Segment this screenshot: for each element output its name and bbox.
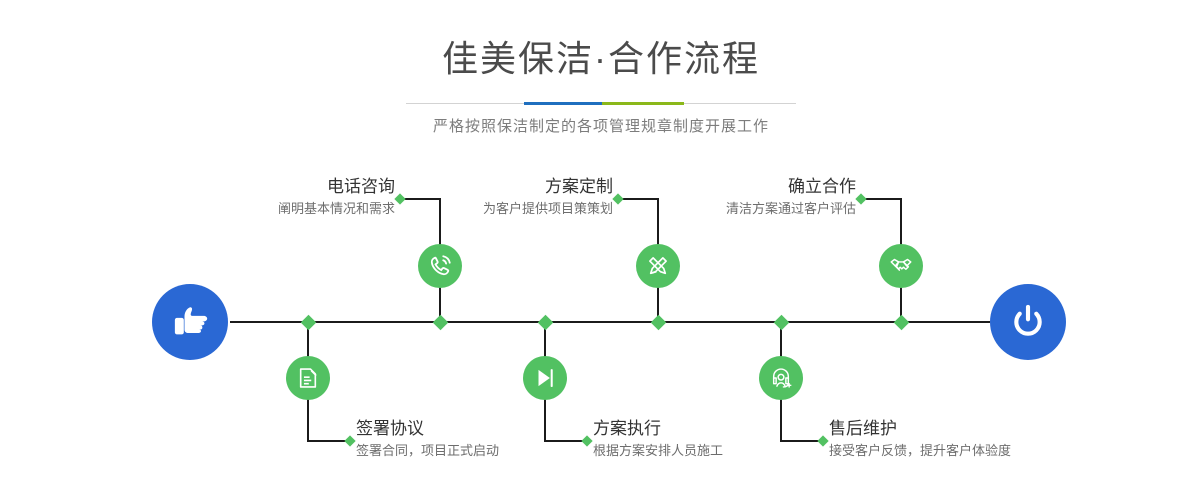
step-2-axis-marker bbox=[300, 314, 316, 330]
flow-start-node[interactable] bbox=[152, 284, 228, 360]
power-icon bbox=[1006, 300, 1050, 344]
step-5-desc: 清洁方案通过客户评估 bbox=[548, 199, 856, 219]
step-5-axis-marker bbox=[893, 314, 909, 330]
play-execute-icon bbox=[532, 365, 558, 391]
process-flow: 电话咨询 阐明基本情况和需求 bbox=[0, 150, 1202, 502]
step-5-connector-horizontal bbox=[861, 198, 901, 200]
handshake-icon bbox=[888, 253, 914, 279]
step-5-label-tip bbox=[855, 193, 866, 204]
phone-call-icon bbox=[427, 253, 453, 279]
infographic-canvas: 佳美保洁·合作流程 严格按照保洁制定的各项管理规章制度开展工作 bbox=[0, 0, 1202, 502]
timeline-axis bbox=[230, 321, 990, 323]
step-2-label-tip bbox=[344, 435, 355, 446]
step-3-icon-badge[interactable] bbox=[636, 244, 680, 288]
thumbs-up-icon bbox=[168, 300, 212, 344]
pencil-ruler-icon bbox=[645, 253, 671, 279]
customer-service-icon bbox=[768, 365, 794, 391]
step-6-desc: 接受客户反馈，提升客户体验度 bbox=[829, 441, 1179, 461]
flow-end-node[interactable] bbox=[990, 284, 1066, 360]
step-6-icon-badge[interactable] bbox=[759, 356, 803, 400]
divider-segment-blue bbox=[524, 102, 602, 105]
header: 佳美保洁·合作流程 严格按照保洁制定的各项管理规章制度开展工作 bbox=[0, 0, 1202, 137]
step-6-axis-marker bbox=[773, 314, 789, 330]
step-4-icon-badge[interactable] bbox=[523, 356, 567, 400]
step-6-label: 售后维护 接受客户反馈，提升客户体验度 bbox=[829, 418, 1179, 461]
step-5-label: 确立合作 清洁方案通过客户评估 bbox=[548, 176, 856, 219]
step-4-axis-marker bbox=[537, 314, 553, 330]
title-divider bbox=[406, 102, 796, 105]
step-5-icon-badge[interactable] bbox=[879, 244, 923, 288]
step-1-axis-marker bbox=[432, 314, 448, 330]
step-5-title: 确立合作 bbox=[548, 176, 856, 198]
page-title: 佳美保洁·合作流程 bbox=[0, 0, 1202, 80]
step-1-icon-badge[interactable] bbox=[418, 244, 462, 288]
step-6-title: 售后维护 bbox=[829, 418, 1179, 440]
step-3-axis-marker bbox=[650, 314, 666, 330]
document-sign-icon bbox=[295, 365, 321, 391]
step-2-icon-badge[interactable] bbox=[286, 356, 330, 400]
divider-segment-green bbox=[602, 102, 684, 105]
page-subtitle: 严格按照保洁制定的各项管理规章制度开展工作 bbox=[0, 105, 1202, 137]
